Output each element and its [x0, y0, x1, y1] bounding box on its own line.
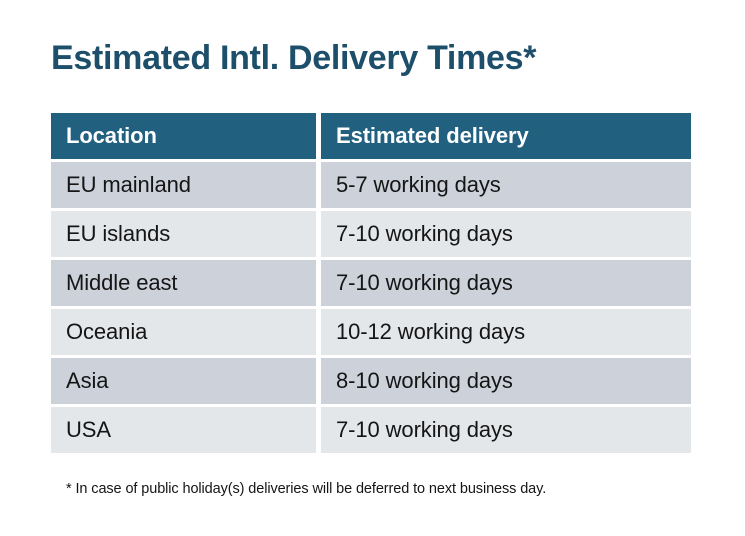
column-header-estimated-delivery: Estimated delivery: [321, 113, 691, 159]
table-header-row: Location Estimated delivery: [51, 113, 691, 159]
cell-location: Asia: [51, 358, 316, 404]
cell-estimated-delivery: 10-12 working days: [321, 309, 691, 355]
cell-location: EU islands: [51, 211, 316, 257]
page-title: Estimated Intl. Delivery Times*: [51, 36, 536, 80]
cell-location: USA: [51, 407, 316, 453]
cell-estimated-delivery: 8-10 working days: [321, 358, 691, 404]
table-row: Middle east 7-10 working days: [51, 260, 691, 306]
cell-estimated-delivery: 5-7 working days: [321, 162, 691, 208]
delivery-times-card: Estimated Intl. Delivery Times* Location…: [0, 0, 745, 536]
table-row: EU islands 7-10 working days: [51, 211, 691, 257]
cell-location: Middle east: [51, 260, 316, 306]
cell-location: Oceania: [51, 309, 316, 355]
cell-estimated-delivery: 7-10 working days: [321, 260, 691, 306]
footnote-text: * In case of public holiday(s) deliverie…: [66, 481, 546, 497]
column-header-location: Location: [51, 113, 316, 159]
cell-estimated-delivery: 7-10 working days: [321, 211, 691, 257]
table-row: EU mainland 5-7 working days: [51, 162, 691, 208]
table-row: USA 7-10 working days: [51, 407, 691, 453]
table-row: Oceania 10-12 working days: [51, 309, 691, 355]
cell-estimated-delivery: 7-10 working days: [321, 407, 691, 453]
cell-location: EU mainland: [51, 162, 316, 208]
estimated-delivery-table: Location Estimated delivery EU mainland …: [51, 113, 691, 453]
table-row: Asia 8-10 working days: [51, 358, 691, 404]
